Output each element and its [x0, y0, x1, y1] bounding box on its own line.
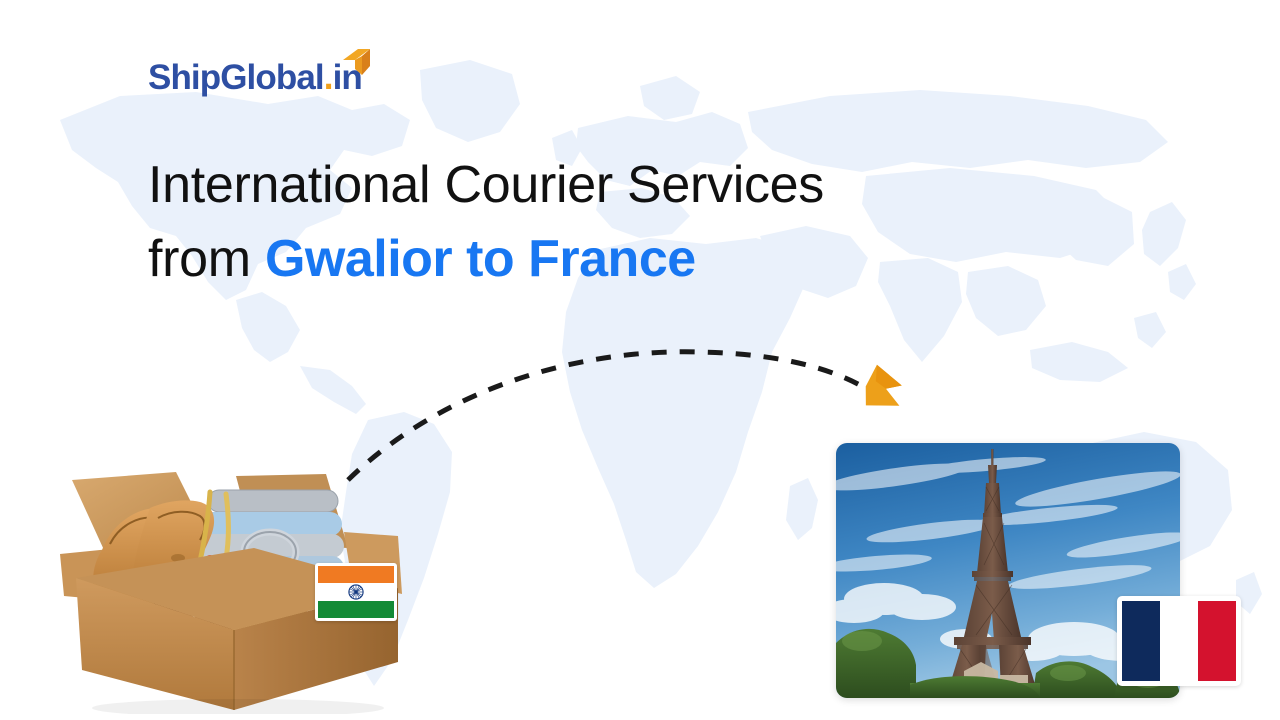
orange-3d-arrow-box-icon: [337, 47, 371, 81]
headline-route-accent: Gwalior to France: [265, 230, 696, 288]
india-flag-band-saffron: [318, 566, 394, 583]
dashed-arc-line: [348, 352, 872, 480]
ashoka-chakra-icon: [348, 584, 365, 601]
courier-service-banner: ShipGlobal.in International Courier Serv…: [0, 0, 1280, 720]
headline-prefix: from: [148, 230, 265, 288]
india-flag-band-green: [318, 601, 394, 618]
brand-logo[interactable]: ShipGlobal.in: [148, 60, 362, 95]
brand-logo-name: ShipGlobal: [148, 58, 324, 97]
brand-logo-dot: .: [324, 58, 333, 97]
orange-chevron-arrow-icon: [860, 364, 909, 416]
headline-line-1: International Courier Services: [148, 156, 824, 214]
india-flag: [315, 563, 397, 621]
france-flag-band-blue: [1122, 601, 1160, 681]
brand-logo-text: ShipGlobal.in: [148, 60, 362, 95]
france-flag: [1117, 596, 1241, 686]
france-flag-band-white: [1160, 601, 1198, 681]
headline-line-2: from Gwalior to France: [148, 222, 824, 296]
page-title: International Courier Services from Gwal…: [148, 148, 824, 296]
france-flag-band-red: [1198, 601, 1236, 681]
